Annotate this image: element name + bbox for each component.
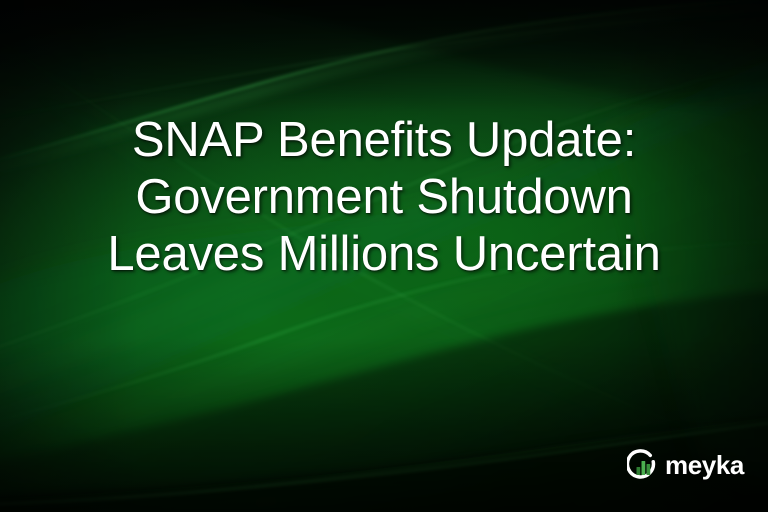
title-line-2: Government Shutdown xyxy=(0,169,768,226)
title-card: SNAP Benefits Update: Government Shutdow… xyxy=(0,0,768,512)
title-line-3: Leaves Millions Uncertain xyxy=(0,226,768,283)
title-line-1: SNAP Benefits Update: xyxy=(0,112,768,169)
page-title: SNAP Benefits Update: Government Shutdow… xyxy=(0,112,768,283)
brand-logo: meyka xyxy=(627,449,744,481)
ring-bar-chart-icon xyxy=(627,449,659,481)
brand-wordmark: meyka xyxy=(665,452,744,478)
